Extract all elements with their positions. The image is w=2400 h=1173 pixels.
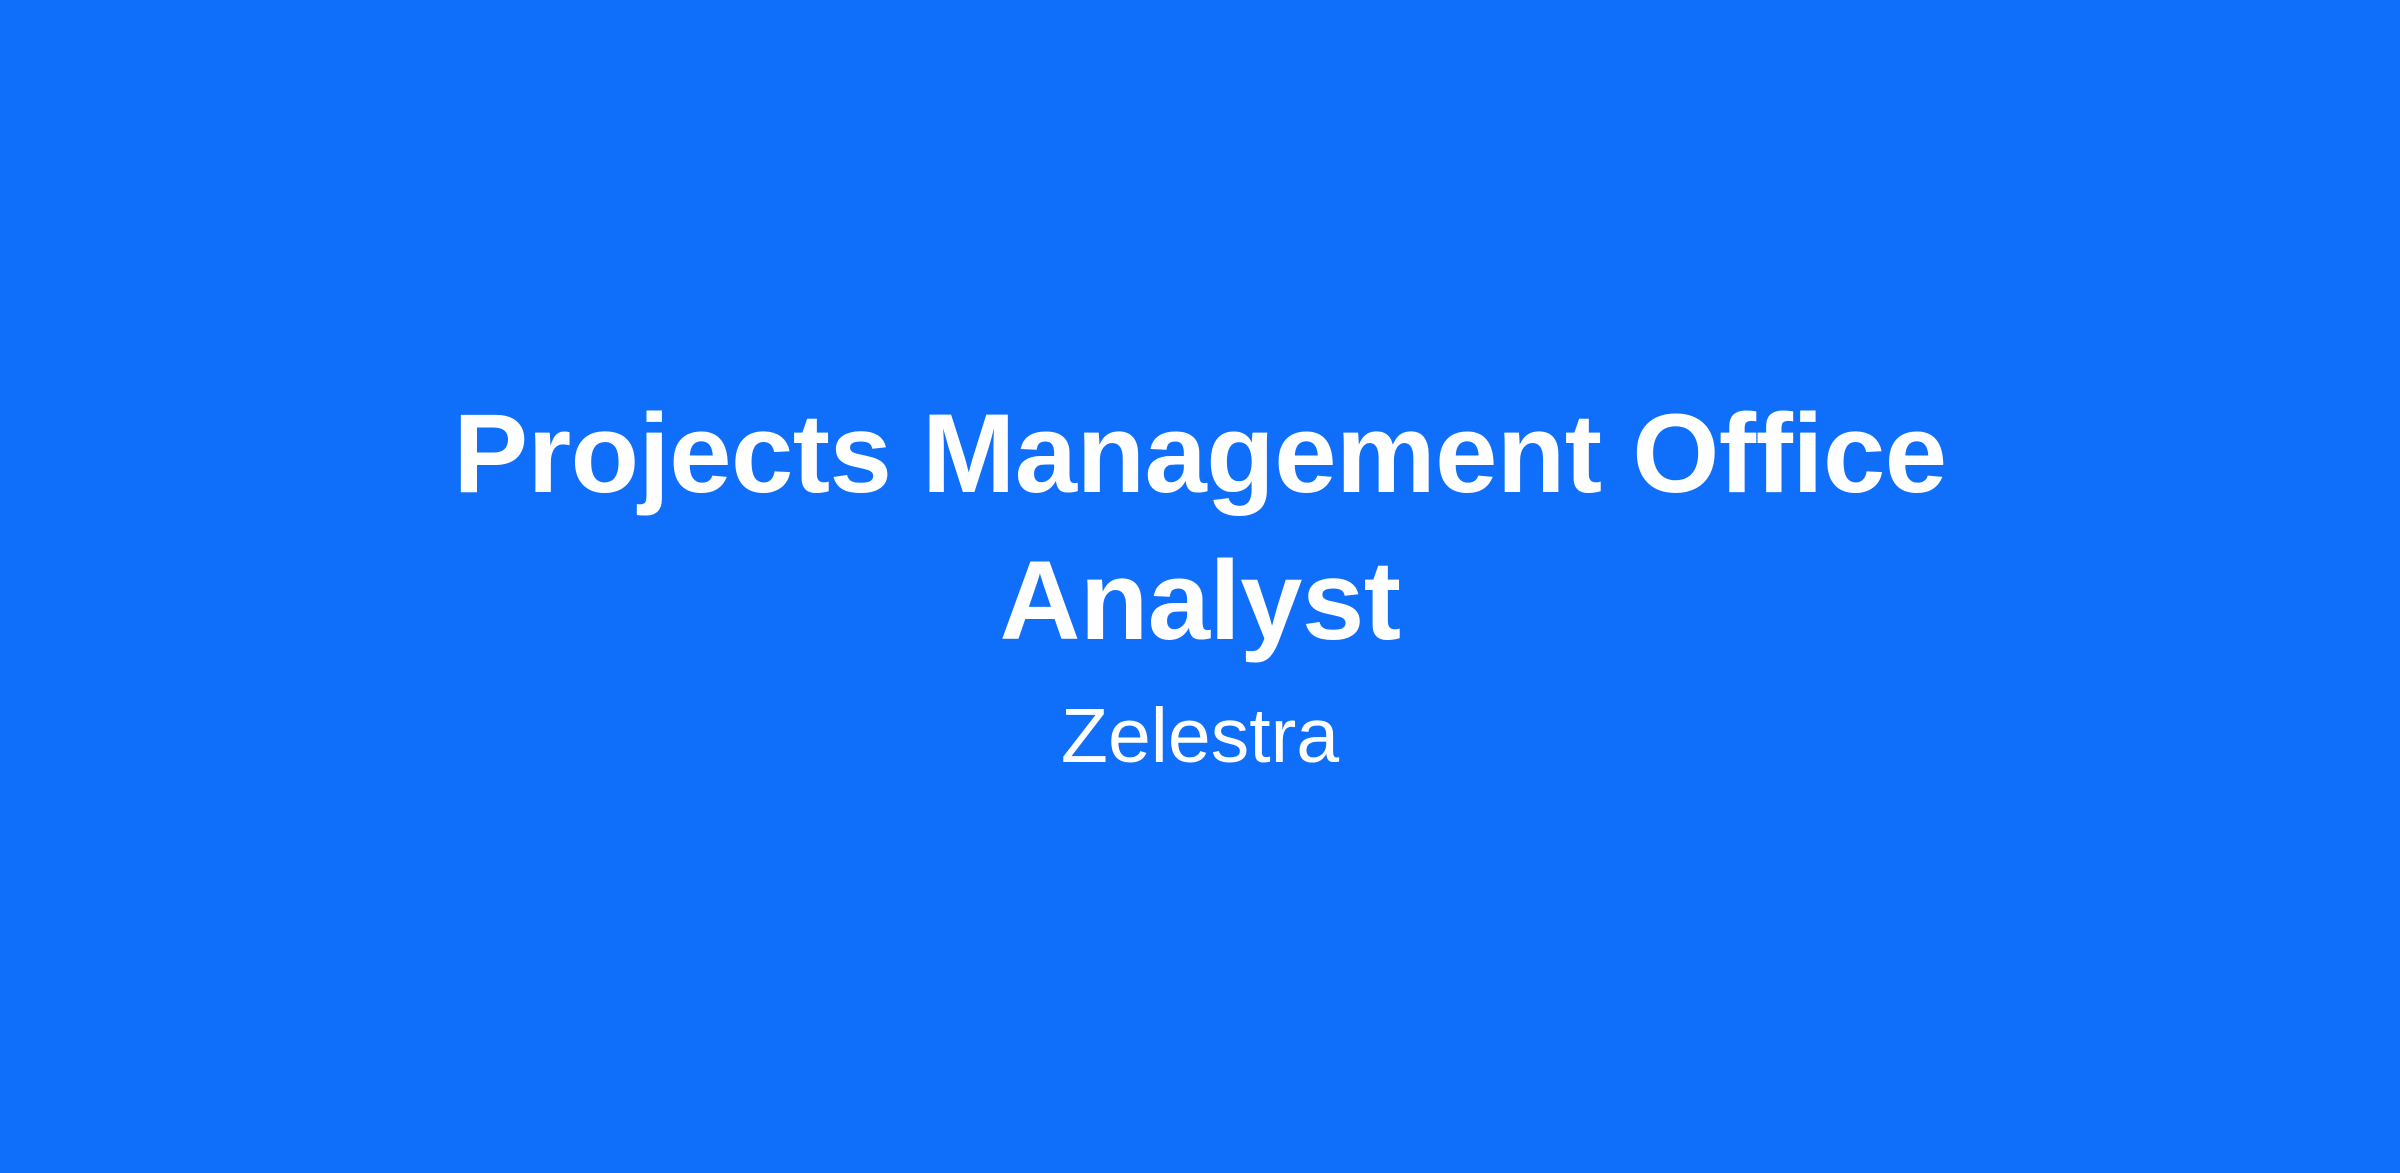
page-subtitle: Zelestra — [1061, 686, 1339, 786]
page-title: Projects Management Office Analyst — [380, 380, 2020, 674]
hero-text-block: Projects Management Office Analyst Zeles… — [380, 380, 2020, 786]
title-slide: Projects Management Office Analyst Zeles… — [0, 0, 2400, 1173]
